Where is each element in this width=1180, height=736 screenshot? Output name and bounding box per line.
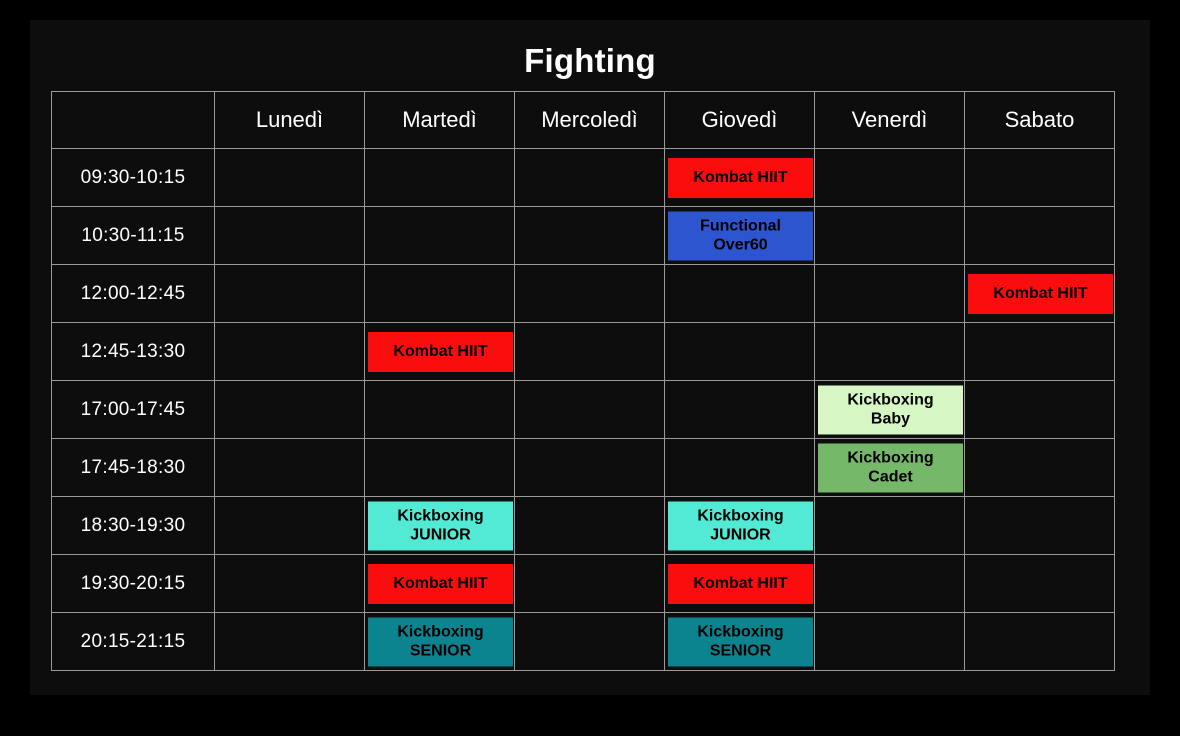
schedule-slot: KickboxingSENIOR [365,613,515,671]
class-event-block[interactable]: Kombat HIIT [668,564,813,604]
class-event-block[interactable]: FunctionalOver60 [668,211,813,260]
schedule-slot [665,439,815,497]
class-name-line1: Kombat HIIT [393,343,487,360]
schedule-slot [815,265,965,323]
schedule-slot [515,613,665,671]
schedule-slot [515,149,665,207]
schedule-slot [365,149,515,207]
header-corner-cell [52,92,215,149]
class-event-block[interactable]: Kombat HIIT [968,274,1113,314]
class-event-block[interactable]: KickboxingBaby [818,385,963,434]
time-slot-label: 18:30-19:30 [52,497,215,555]
schedule-slot: KickboxingBaby [815,381,965,439]
schedule-slot [365,439,515,497]
time-slot-label: 20:15-21:15 [52,613,215,671]
schedule-slot [815,497,965,555]
schedule-slot: Kombat HIIT [665,555,815,613]
day-header-lunedì: Lunedì [215,92,365,149]
schedule-slot [815,555,965,613]
day-header-venerdì: Venerdì [815,92,965,149]
schedule-slot [815,207,965,265]
class-event-block[interactable]: KickboxingSENIOR [668,617,813,666]
schedule-slot [215,439,365,497]
day-header-sabato: Sabato [965,92,1115,149]
class-name-line1: Kickboxing [847,449,933,466]
schedule-slot [215,323,365,381]
table-row: 10:30-11:15FunctionalOver60 [52,207,1115,265]
time-slot-label: 12:45-13:30 [52,323,215,381]
schedule-slot [215,497,365,555]
table-row: 17:45-18:30KickboxingCadet [52,439,1115,497]
schedule-slot [965,555,1115,613]
schedule-slot [215,613,365,671]
time-slot-label: 19:30-20:15 [52,555,215,613]
schedule-slot [965,207,1115,265]
class-name-line2: JUNIOR [397,526,483,546]
time-slot-label: 10:30-11:15 [52,207,215,265]
schedule-slot [665,265,815,323]
schedule-slot [215,207,365,265]
schedule-slot: KickboxingCadet [815,439,965,497]
schedule-slot: KickboxingJUNIOR [365,497,515,555]
schedule-slot [965,497,1115,555]
table-row: 20:15-21:15KickboxingSENIORKickboxingSEN… [52,613,1115,671]
schedule-slot [665,381,815,439]
schedule-slot [815,323,965,381]
schedule-slot [515,381,665,439]
schedule-slot [515,323,665,381]
class-name-line2: Over60 [700,236,781,256]
class-name-line2: SENIOR [697,642,783,662]
day-header-giovedì: Giovedì [665,92,815,149]
class-event-block[interactable]: Kombat HIIT [668,158,813,198]
class-event-block[interactable]: KickboxingJUNIOR [668,501,813,550]
day-header-mercoledì: Mercoledì [515,92,665,149]
schedule-slot [815,149,965,207]
class-event-block[interactable]: Kombat HIIT [368,564,513,604]
schedule-slot: KickboxingJUNIOR [665,497,815,555]
schedule-slot: Kombat HIIT [965,265,1115,323]
schedule-slot [365,381,515,439]
schedule-slot [215,381,365,439]
time-slot-label: 12:00-12:45 [52,265,215,323]
weekly-schedule-table: LunedìMartedìMercoledìGiovedìVenerdìSaba… [51,91,1115,671]
time-slot-label: 17:00-17:45 [52,381,215,439]
class-event-block[interactable]: KickboxingSENIOR [368,617,513,666]
time-slot-label: 17:45-18:30 [52,439,215,497]
schedule-slot: Kombat HIIT [365,323,515,381]
table-row: 18:30-19:30KickboxingJUNIORKickboxingJUN… [52,497,1115,555]
schedule-slot: KickboxingSENIOR [665,613,815,671]
page-root: Fighting LunedìMartedìMercoledìGiovedìVe… [0,0,1180,736]
schedule-slot [965,149,1115,207]
class-name-line1: Functional [700,217,781,234]
table-row: 09:30-10:15Kombat HIIT [52,149,1115,207]
schedule-slot [665,323,815,381]
class-name-line1: Kombat HIIT [693,575,787,592]
schedule-slot [815,613,965,671]
class-name-line1: Kickboxing [397,623,483,640]
table-row: 12:00-12:45Kombat HIIT [52,265,1115,323]
schedule-slot [365,265,515,323]
class-name-line1: Kombat HIIT [993,285,1087,302]
class-event-block[interactable]: KickboxingJUNIOR [368,501,513,550]
schedule-slot: FunctionalOver60 [665,207,815,265]
schedule-slot [215,265,365,323]
page-title: Fighting [30,42,1150,80]
schedule-slot [965,323,1115,381]
table-row: 17:00-17:45KickboxingBaby [52,381,1115,439]
class-name-line2: SENIOR [397,642,483,662]
schedule-slot [965,439,1115,497]
table-body: 09:30-10:15Kombat HIIT10:30-11:15Functio… [52,149,1115,671]
class-event-block[interactable]: KickboxingCadet [818,443,963,492]
table-row: 12:45-13:30Kombat HIIT [52,323,1115,381]
class-name-line1: Kickboxing [697,623,783,640]
schedule-slot [215,149,365,207]
class-name-line2: Cadet [847,468,933,488]
schedule-slot [965,613,1115,671]
class-name-line2: Baby [847,410,933,430]
class-name-line2: JUNIOR [697,526,783,546]
class-name-line1: Kombat HIIT [693,169,787,186]
schedule-slot [515,265,665,323]
class-name-line1: Kombat HIIT [393,575,487,592]
schedule-panel: Fighting LunedìMartedìMercoledìGiovedìVe… [30,20,1150,695]
schedule-slot [515,439,665,497]
time-slot-label: 09:30-10:15 [52,149,215,207]
class-name-line1: Kickboxing [397,507,483,524]
schedule-slot: Kombat HIIT [365,555,515,613]
class-name-line1: Kickboxing [697,507,783,524]
class-name-line1: Kickboxing [847,391,933,408]
schedule-slot [515,555,665,613]
schedule-slot [515,207,665,265]
schedule-slot [365,207,515,265]
schedule-slot [515,497,665,555]
table-header-row: LunedìMartedìMercoledìGiovedìVenerdìSaba… [52,92,1115,149]
class-event-block[interactable]: Kombat HIIT [368,332,513,372]
day-header-martedì: Martedì [365,92,515,149]
schedule-slot [965,381,1115,439]
schedule-slot [215,555,365,613]
schedule-slot: Kombat HIIT [665,149,815,207]
table-row: 19:30-20:15Kombat HIITKombat HIIT [52,555,1115,613]
